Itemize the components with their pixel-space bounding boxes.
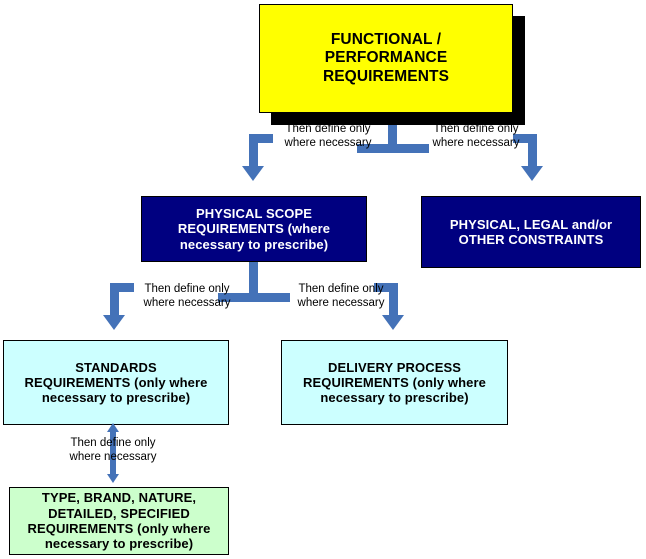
caption-standards-to-type-brand-line-1: Then define only <box>57 436 169 450</box>
node-physical-scope-line-3: necessary to prescribe) <box>146 237 362 252</box>
node-standards-line-3: necessary to prescribe) <box>8 390 224 405</box>
node-functional-performance-requirements[interactable]: FUNCTIONAL / PERFORMANCE REQUIREMENTS <box>259 4 513 113</box>
node-constraints-line-2: OTHER CONSTRAINTS <box>426 232 636 247</box>
node-type-brand-nature-requirements[interactable]: TYPE, BRAND, NATURE, DETAILED, SPECIFIED… <box>9 487 229 555</box>
node-delivery-line-1: DELIVERY PROCESS <box>286 360 503 375</box>
caption-standards-to-type-brand: Then define only where necessary <box>57 436 169 465</box>
node-root-line-2: PERFORMANCE <box>264 49 508 67</box>
caption-root-to-constraints-line-2: where necessary <box>420 136 532 150</box>
node-physical-scope-line-2: REQUIREMENTS (where <box>146 221 362 236</box>
node-physical-scope-requirements[interactable]: PHYSICAL SCOPE REQUIREMENTS (where neces… <box>141 196 367 262</box>
node-standards-line-2: REQUIREMENTS (only where <box>8 375 224 390</box>
caption-scope-to-delivery: Then define only where necessary <box>285 282 397 311</box>
caption-root-to-constraints: Then define only where necessary <box>420 122 532 151</box>
arrowhead-scope-to-standards <box>103 315 125 330</box>
caption-scope-to-delivery-line-1: Then define only <box>285 282 397 296</box>
node-root-line-1: FUNCTIONAL / <box>264 31 508 49</box>
caption-scope-to-delivery-line-2: where necessary <box>285 296 397 310</box>
node-root-line-3: REQUIREMENTS <box>264 68 508 86</box>
caption-scope-to-standards-line-1: Then define only <box>131 282 243 296</box>
caption-root-to-scope-line-2: where necessary <box>272 136 384 150</box>
arrowhead-root-to-constraints <box>521 166 543 181</box>
node-delivery-process-requirements[interactable]: DELIVERY PROCESS REQUIREMENTS (only wher… <box>281 340 508 425</box>
connector-scope-stem <box>249 262 258 297</box>
node-standards-line-1: STANDARDS <box>8 360 224 375</box>
node-type-brand-line-2: DETAILED, SPECIFIED <box>14 506 224 521</box>
caption-standards-to-type-brand-line-2: where necessary <box>57 450 169 464</box>
arrowhead-root-to-scope <box>242 166 264 181</box>
arrowhead-scope-to-delivery <box>382 315 404 330</box>
flowchart-canvas: FUNCTIONAL / PERFORMANCE REQUIREMENTS Th… <box>0 0 646 559</box>
node-delivery-line-3: necessary to prescribe) <box>286 390 503 405</box>
arrowhead-standards-to-type-brand-down <box>107 474 119 483</box>
node-physical-legal-other-constraints[interactable]: PHYSICAL, LEGAL and/or OTHER CONSTRAINTS <box>421 196 641 268</box>
node-type-brand-line-3: REQUIREMENTS (only where <box>14 521 224 536</box>
connector-root-to-scope-elbow <box>249 134 273 143</box>
node-delivery-line-2: REQUIREMENTS (only where <box>286 375 503 390</box>
node-type-brand-line-1: TYPE, BRAND, NATURE, <box>14 490 224 505</box>
node-type-brand-line-4: necessary to prescribe) <box>14 536 224 551</box>
caption-root-to-physical-scope: Then define only where necessary <box>272 122 384 151</box>
node-standards-requirements[interactable]: STANDARDS REQUIREMENTS (only where neces… <box>3 340 229 425</box>
caption-scope-to-standards: Then define only where necessary <box>131 282 243 311</box>
node-physical-scope-line-1: PHYSICAL SCOPE <box>146 206 362 221</box>
node-constraints-line-1: PHYSICAL, LEGAL and/or <box>426 217 636 232</box>
caption-scope-to-standards-line-2: where necessary <box>131 296 243 310</box>
